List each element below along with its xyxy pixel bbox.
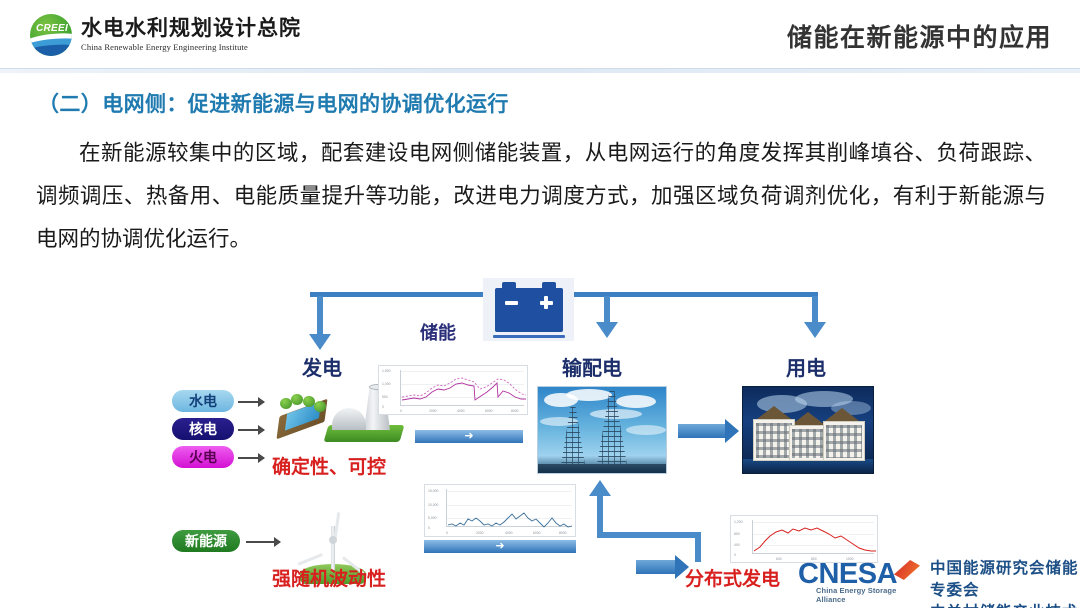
cnesa-logo: CNESA China Energy Storage Alliance	[798, 556, 926, 604]
creei-logo: CREEI 水电水利规划设计总院 China Renewable Energy …	[30, 14, 301, 56]
arrow-stem-generation	[317, 296, 323, 336]
slide-root: CREEI 水电水利规划设计总院 China Renewable Energy …	[0, 0, 1080, 608]
column-label-usage: 用电	[786, 352, 826, 381]
cnesa-subtitle: China Energy Storage Alliance	[816, 586, 926, 604]
org-name-en: China Renewable Energy Engineering Insti…	[81, 42, 301, 52]
arrow-hydro-to-plant	[238, 401, 264, 403]
arrow-down-generation	[309, 334, 331, 350]
cnesa-swoosh-icon	[894, 560, 920, 580]
residential-buildings-photo	[742, 386, 874, 474]
feedback-elbow-horizontal	[597, 532, 701, 538]
arrow-transmission-to-usage	[678, 424, 726, 438]
pill-thermal: 火电	[172, 446, 234, 468]
pill-new-energy: 新能源	[172, 530, 240, 552]
chart-conventional-output: 1,500 1,000 500 0 0 2000 4000 6000 8000	[378, 365, 528, 415]
pill-nuclear: 核电	[172, 418, 234, 440]
transmission-tower-photo	[537, 386, 667, 474]
arrow-stem-usage	[812, 296, 818, 324]
feedback-elbow-riser	[695, 532, 701, 562]
arrow-glyph: ➜	[495, 541, 504, 552]
slide-header: CREEI 水电水利规划设计总院 China Renewable Energy …	[0, 0, 1080, 68]
column-label-transmission: 输配电	[562, 352, 622, 381]
cnesa-org-line1: 中国能源研究会储能专委会	[930, 558, 1080, 602]
cnesa-org-line2: 中关村储能产业技术联盟	[930, 602, 1080, 608]
arrow-down-transmission	[596, 322, 618, 338]
arrow-to-distributed-label	[636, 560, 676, 574]
arrow-newenergy-to-grid: ➜	[424, 540, 576, 553]
chart2-plot	[425, 485, 576, 537]
creei-logo-icon: CREEI	[30, 14, 72, 56]
creei-badge-text: CREEI	[35, 23, 69, 34]
page-title: 储能在新能源中的应用	[787, 18, 1052, 54]
arrow-down-usage	[804, 322, 826, 338]
battery-icon	[483, 278, 574, 341]
body-paragraph: 在新能源较集中的区域，配套建设电网侧储能装置，从电网运行的角度发挥其削峰填谷、负…	[36, 132, 1046, 261]
cnesa-org-names: 中国能源研究会储能专委会 中关村储能产业技术联盟	[930, 558, 1080, 608]
feedback-arrow-up	[589, 480, 611, 496]
label-certainty-controllable: 确定性、可控	[272, 452, 386, 479]
header-divider	[0, 68, 1080, 73]
storage-label: 储能	[420, 319, 456, 345]
org-name-cn: 水电水利规划设计总院	[81, 18, 301, 41]
section-heading: （二）电网侧：促进新能源与电网的协调优化运行	[38, 88, 509, 118]
label-distributed-generation: 分布式发电	[685, 564, 780, 591]
arrow-newenergy-to-turbine	[246, 541, 280, 543]
pill-hydro: 水电	[172, 390, 234, 412]
arrow-stem-transmission	[604, 296, 610, 324]
chart1-plot	[379, 366, 528, 415]
column-label-generation: 发电	[302, 352, 342, 381]
label-strong-volatility: 强随机波动性	[272, 564, 386, 591]
chart-new-energy-output: 15,000 10,000 5,000 0 0 2000 4000 6000 8…	[424, 484, 576, 537]
arrow-nuclear-to-plant	[238, 429, 264, 431]
arrow-thermal-to-plant	[238, 457, 264, 459]
